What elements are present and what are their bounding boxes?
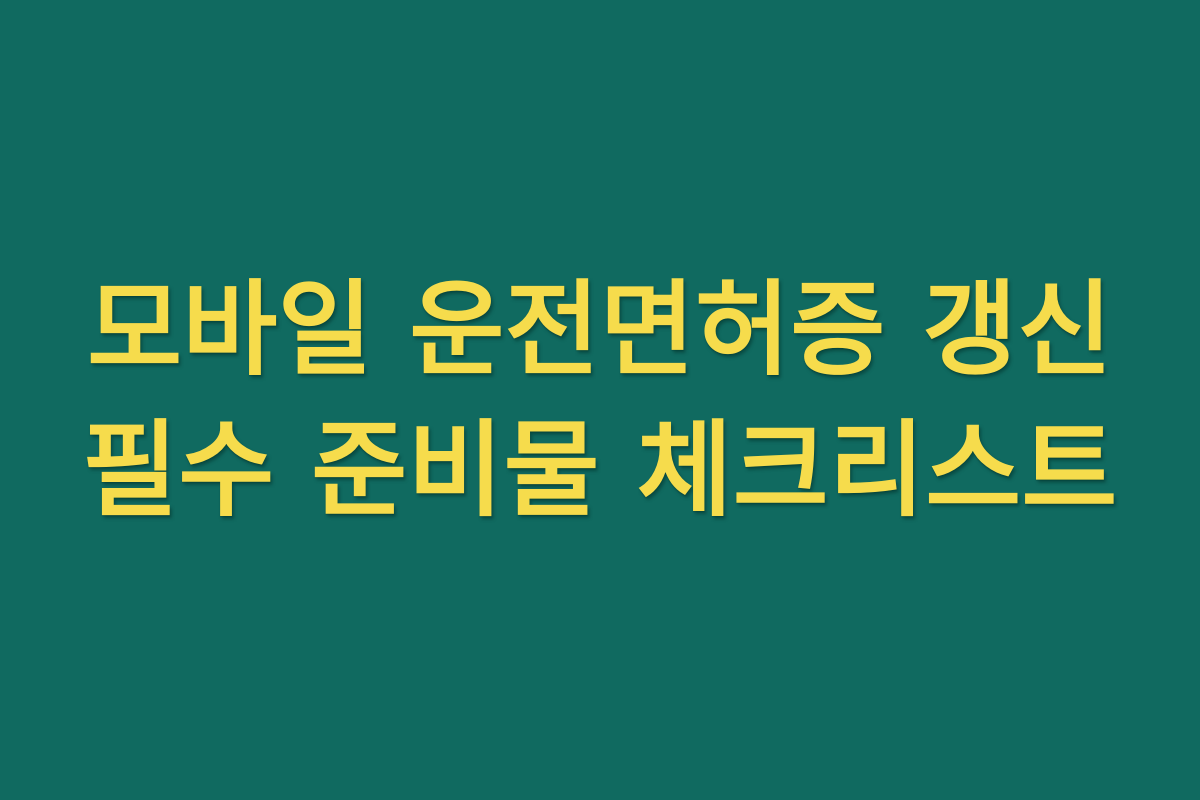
- banner-canvas: 모바일 운전면허증 갱신 필수 준비물 체크리스트: [0, 0, 1200, 800]
- headline-block: 모바일 운전면허증 갱신 필수 준비물 체크리스트: [0, 260, 1200, 540]
- headline-line-1: 모바일 운전면허증 갱신: [56, 260, 1144, 400]
- headline-line-2: 필수 준비물 체크리스트: [56, 400, 1144, 540]
